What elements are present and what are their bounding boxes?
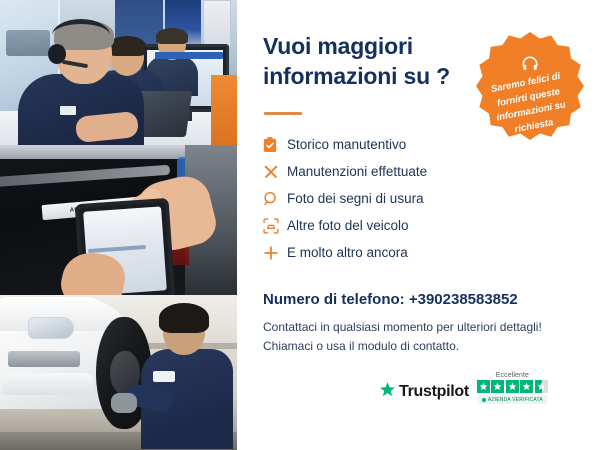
car-headlight [28, 317, 74, 339]
request-info-badge: Saremo felici di fornirti queste informa… [476, 32, 584, 140]
feature-label: E molto altro ancora [287, 245, 408, 260]
star-filled-4 [520, 380, 533, 393]
agent-name-badge [60, 106, 76, 115]
title-divider [264, 112, 302, 115]
trustpilot-rating: Eccellente [477, 372, 548, 404]
call-centre-agents-photo [0, 0, 237, 145]
star-partial-5 [535, 380, 548, 393]
verified-check-icon [482, 398, 486, 402]
clipboard-check-icon [263, 137, 287, 153]
feature-item-altre-foto-veicolo[interactable]: Altre foto del veicolo [263, 212, 493, 239]
promo-banner: AUTOSCOUT [0, 0, 600, 450]
feature-item-manutenzioni-effettuate[interactable]: Manutenzioni effettuate [263, 158, 493, 185]
contact-line-2: Chiamaci o usa il modulo di contatto. [263, 337, 563, 356]
star-filled-3 [506, 380, 519, 393]
mechanic-glove [111, 393, 137, 413]
monitor-screen-bar [155, 52, 223, 59]
trustpilot-star-icon [379, 381, 396, 403]
star-filled-2 [491, 380, 504, 393]
car-scan-icon [263, 218, 287, 234]
star-filled-1 [477, 380, 490, 393]
car-grille [8, 351, 80, 367]
mechanic-hair [159, 303, 209, 333]
phone-number-line[interactable]: Numero di telefono: +390238583852 [263, 291, 518, 308]
phone-label: Numero di telefono: [263, 291, 405, 308]
feature-label: Foto dei segni di usura [287, 191, 424, 206]
trustpilot-widget[interactable]: Trustpilot Eccellente [379, 372, 548, 404]
verified-label: AZIENDA VERIFICATA [488, 397, 543, 403]
car-bumper [2, 373, 94, 395]
feature-list: Storico manutentivo Manutenzioni effettu… [263, 131, 493, 266]
wall-poster [203, 0, 231, 48]
mechanic-inspecting-car-photo [0, 295, 237, 450]
feature-label: Storico manutentivo [287, 137, 406, 152]
contact-instructions: Contattaci in qualsiasi momento per ulte… [263, 318, 563, 355]
trustpilot-brand: Trustpilot [399, 383, 469, 401]
uniform-logo [153, 371, 175, 382]
page-title: Vuoi maggiori informazioni su ? [263, 32, 473, 92]
content-panel: Vuoi maggiori informazioni su ? Saremo f… [237, 0, 600, 450]
contact-line-1: Contattaci in qualsiasi momento per ulte… [263, 318, 563, 337]
feature-label: Manutenzioni effettuate [287, 164, 427, 179]
trustpilot-logo: Trustpilot [379, 381, 469, 403]
feature-item-storico-manutentivo[interactable]: Storico manutentivo [263, 131, 493, 158]
foreground-agent [18, 22, 138, 145]
star-rating [477, 380, 548, 393]
feature-label: Altre foto del veicolo [287, 218, 409, 233]
magnifier-icon [263, 191, 287, 207]
mechanic [141, 305, 233, 450]
plus-icon [263, 245, 287, 261]
sticker-on-black-car-photo: AUTOSCOUT [0, 145, 237, 295]
orange-partition [211, 75, 237, 145]
verified-business-badge: AZIENDA VERIFICATA [478, 395, 547, 404]
feature-item-molto-altro[interactable]: E molto altro ancora [263, 239, 493, 266]
feature-item-foto-segni-usura[interactable]: Foto dei segni di usura [263, 185, 493, 212]
tools-cross-icon [263, 164, 287, 180]
phone-number[interactable]: +390238583852 [409, 291, 518, 308]
rating-label: Eccellente [496, 372, 529, 379]
photo-column: AUTOSCOUT [0, 0, 237, 450]
